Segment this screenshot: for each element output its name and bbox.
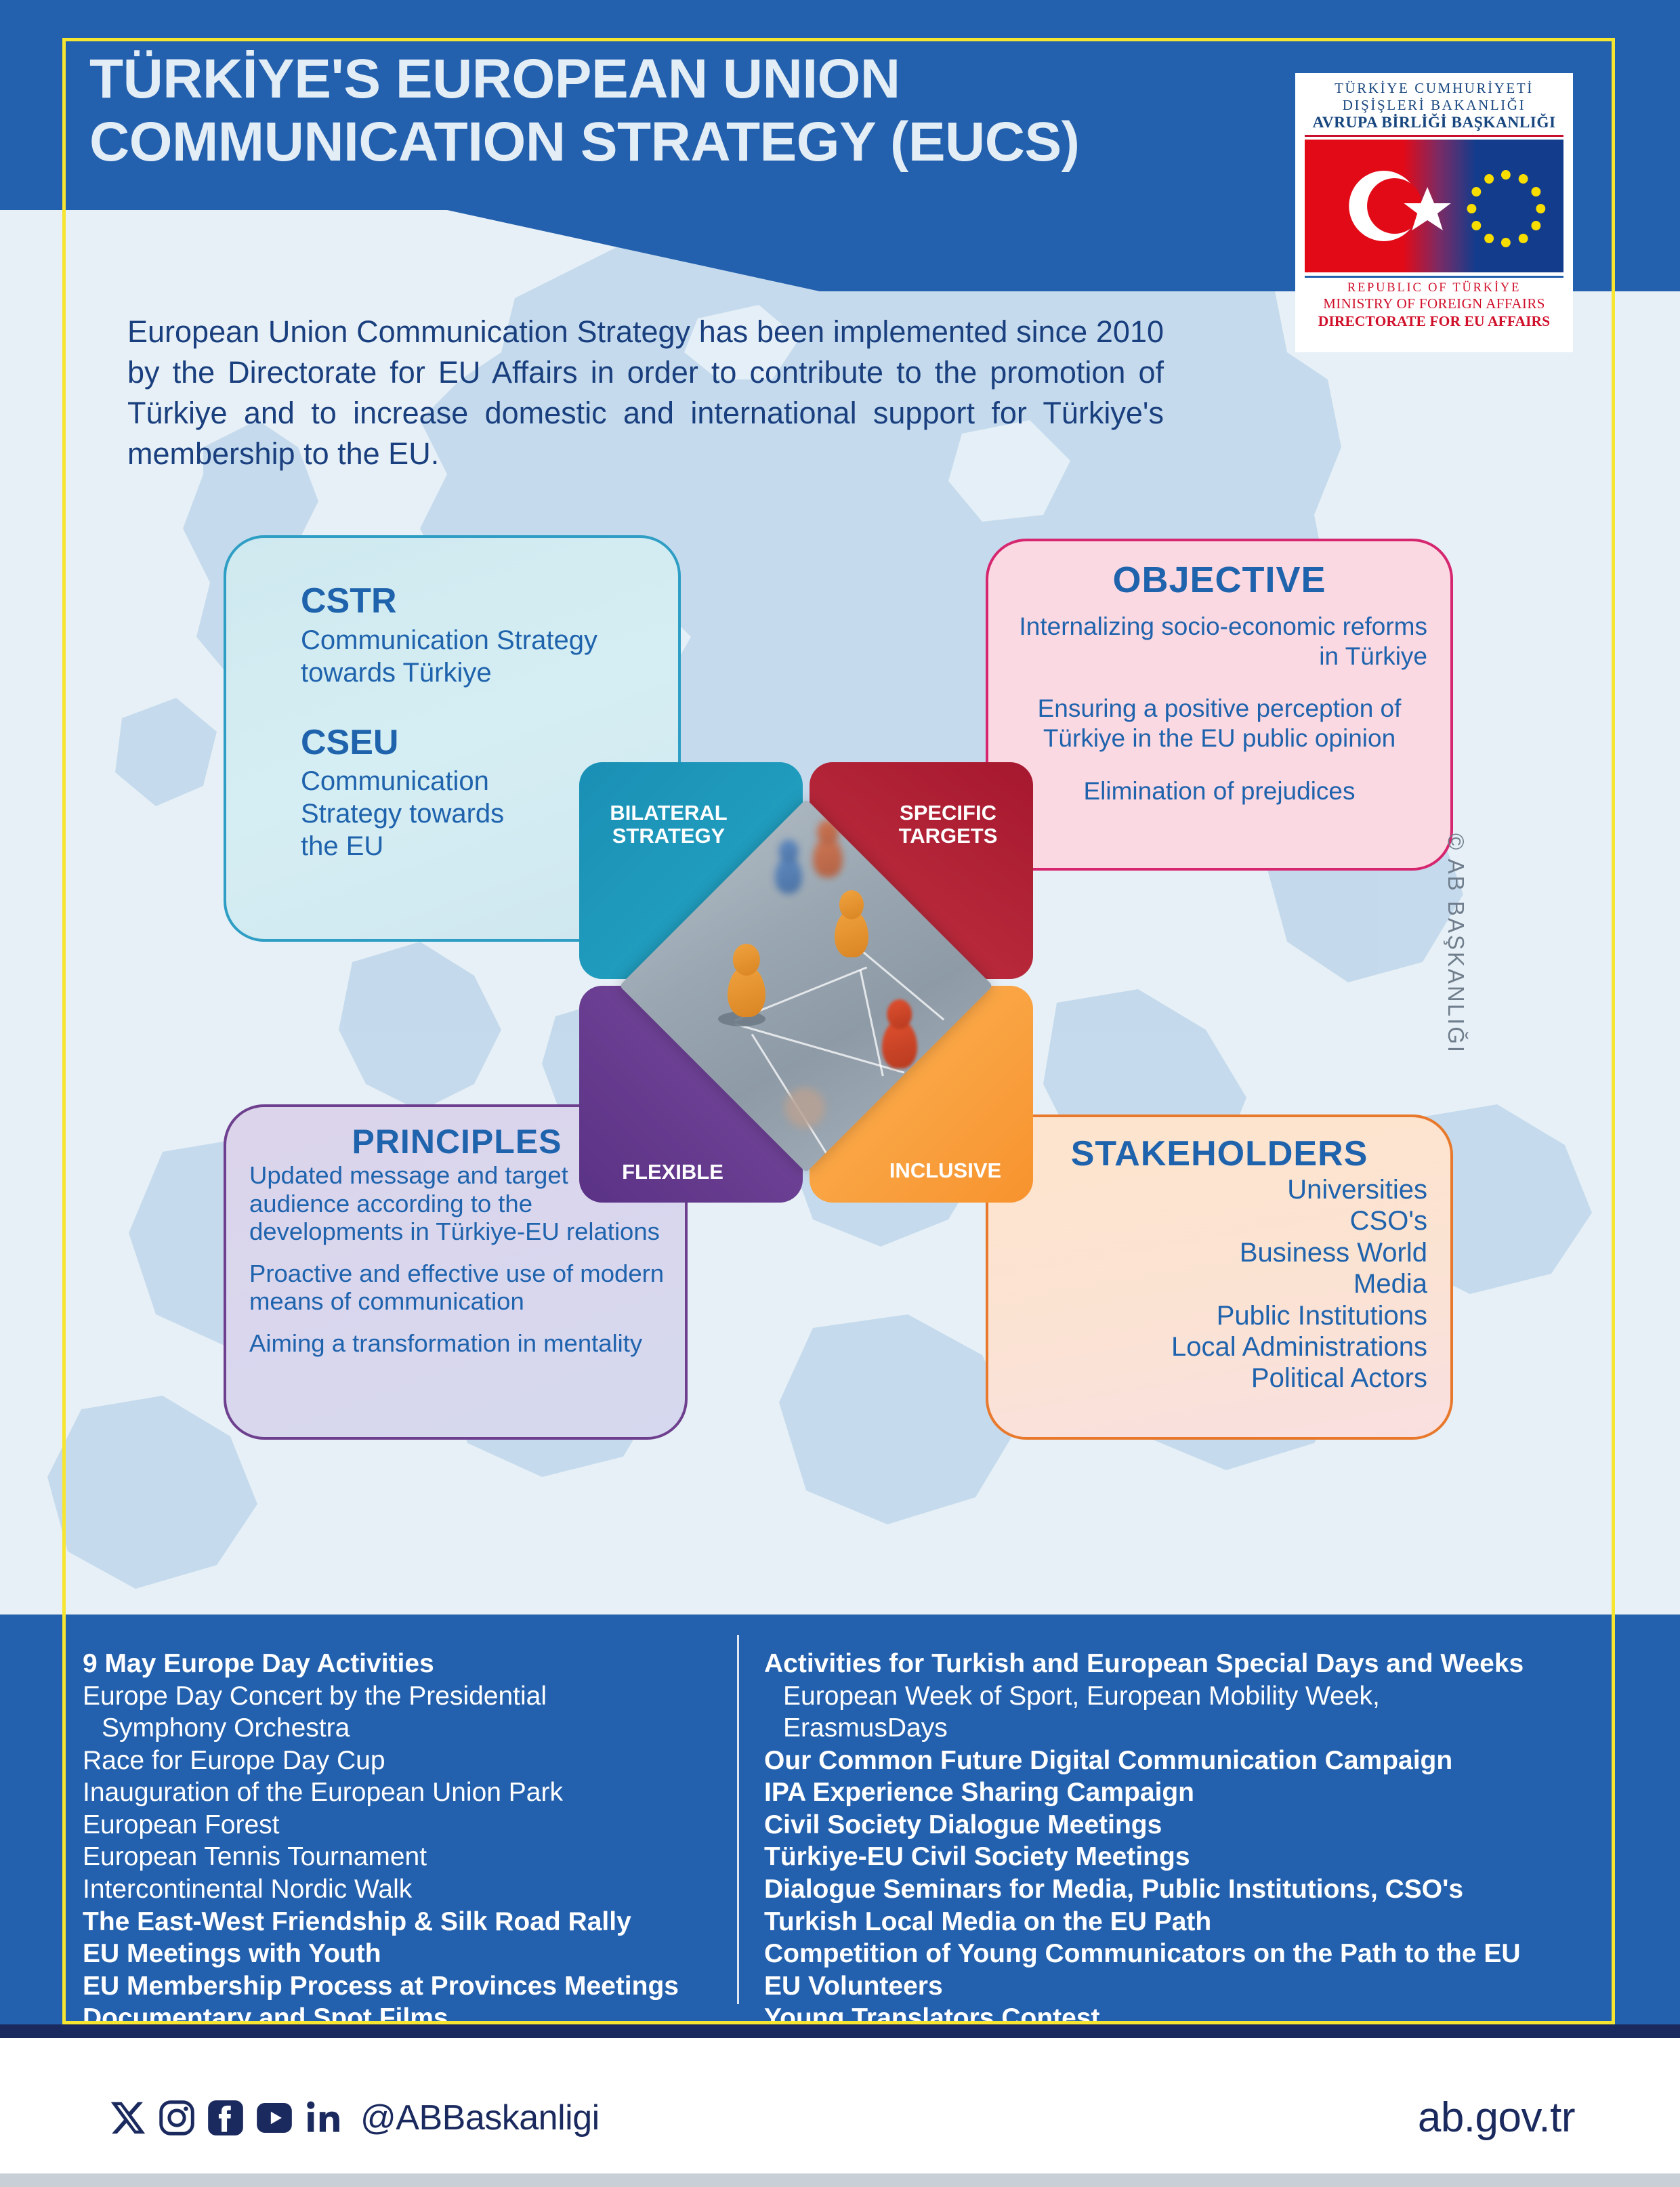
activity-item: The East-West Friendship & Silk Road Ral… <box>83 1906 726 1938</box>
activity-item: Inauguration of the European Union Park <box>83 1776 726 1809</box>
activities-column-divider <box>737 1635 739 2004</box>
stakeholder-item: CSO's <box>1011 1205 1427 1236</box>
objective-card: OBJECTIVE Internalizing socio-economic r… <box>986 539 1453 871</box>
activity-item: Europe Day Concert by the Presidential <box>83 1680 726 1713</box>
principles-item: Aiming a transformation in mentality <box>249 1329 665 1358</box>
page-title: TÜRKİYE'S EUROPEAN UNION COMMUNICATION S… <box>89 47 1227 174</box>
pawn-blurred-blue <box>775 856 802 894</box>
activity-item: EU Meetings with Youth <box>83 1938 726 1970</box>
activity-item: European Forest <box>83 1809 726 1841</box>
activity-item: Intercontinental Nordic Walk <box>83 1873 726 1906</box>
cstr-description: Communication Strategy towards Türkiye <box>301 624 619 689</box>
stakeholder-item: Media <box>1011 1268 1427 1299</box>
tile-bilateral-strategy-label: BILATERAL STRATEGY <box>594 801 743 848</box>
activity-item: European Tennis Tournament <box>83 1841 726 1873</box>
principles-item: Proactive and effective use of modern me… <box>249 1259 665 1316</box>
page-title-line-2: COMMUNICATION STRATEGY (EUCS) <box>89 110 1227 173</box>
social-handle[interactable]: @ABBaskanligi <box>360 2098 600 2138</box>
stakeholder-item: Public Institutions <box>1011 1300 1427 1331</box>
activities-right-heading: Activities for Turkish and European Spec… <box>764 1648 1597 1680</box>
pawn-orange-left <box>728 965 765 1017</box>
ministry-logo: TÜRKİYE CUMHURİYETİ DIŞİŞLERİ BAKANLIĞI … <box>1295 73 1573 352</box>
intro-paragraph: European Union Communication Strategy ha… <box>127 312 1164 474</box>
activity-item: Competition of Young Communicators on th… <box>764 1938 1597 1970</box>
logo-tr-line-2: DIŞİŞLERİ BAKANLIĞI <box>1303 97 1565 114</box>
activity-item: EU Membership Process at Provinces Meeti… <box>83 1970 726 2003</box>
tile-inclusive-label: INCLUSIVE <box>873 1159 1018 1182</box>
strategy-diagram: BILATERAL STRATEGY SPECIFIC TARGETS FLEX… <box>579 762 1033 1209</box>
pawn-orange-center <box>835 910 868 957</box>
activity-item: Race for Europe Day Cup <box>83 1745 726 1777</box>
activity-item: Civil Society Dialogue Meetings <box>764 1809 1597 1841</box>
social-media-links: @ABBaskanligi <box>107 2097 600 2139</box>
activity-item: Our Common Future Digital Communication … <box>764 1745 1597 1777</box>
pawn-blurred-back <box>813 837 843 877</box>
website-url[interactable]: ab.gov.tr <box>1418 2094 1575 2142</box>
stakeholder-item: Universities <box>1011 1174 1427 1205</box>
activity-item: Symphony Orchestra <box>83 1712 726 1745</box>
stakeholder-item: Local Administrations <box>1011 1331 1427 1362</box>
facebook-icon[interactable] <box>205 2097 247 2139</box>
cstr-abbreviation: CSTR <box>301 583 678 620</box>
tile-flexible-label: FLEXIBLE <box>598 1161 747 1184</box>
logo-en-line-3: DIRECTORATE FOR EU AFFAIRS <box>1303 313 1565 331</box>
footer-bottom-bar <box>0 2173 1680 2187</box>
activity-item: Türkiye-EU Civil Society Meetings <box>764 1841 1597 1873</box>
activities-left-column: 9 May Europe Day Activities Europe Day C… <box>83 1648 726 2035</box>
objective-item: Internalizing socio-economic reforms in … <box>1011 612 1427 671</box>
stakeholder-item: Business World <box>1011 1237 1427 1268</box>
logo-en-line-2: MINISTRY OF FOREIGN AFFAIRS <box>1303 295 1565 312</box>
logo-en-line-1: REPUBLIC OF TÜRKİYE <box>1303 280 1565 295</box>
pawn-red-right <box>882 1020 917 1068</box>
youtube-icon[interactable] <box>253 2097 295 2139</box>
logo-tr-line-1: TÜRKİYE CUMHURİYETİ <box>1303 80 1565 97</box>
objective-heading: OBJECTIVE <box>1011 559 1427 601</box>
page-title-line-1: TÜRKİYE'S EUROPEAN UNION <box>89 47 1227 110</box>
linkedin-icon[interactable] <box>302 2097 344 2139</box>
tile-specific-targets-label: SPECIFIC TARGETS <box>875 801 1021 848</box>
activity-item: Dialogue Seminars for Media, Public Inst… <box>764 1873 1597 1906</box>
copyright-notice: © AB BAŞKANLIĞI <box>1443 833 1469 1054</box>
cseu-description: Communication Strategy towards the EU <box>301 765 531 862</box>
cseu-abbreviation: CSEU <box>301 724 678 762</box>
logo-divider-bottom <box>1305 276 1563 278</box>
logo-tr-line-3: AVRUPA BİRLİĞİ BAŞKANLIĞI <box>1303 114 1565 133</box>
activity-item: Turkish Local Media on the EU Path <box>764 1906 1597 1938</box>
stakeholder-item: Political Actors <box>1011 1362 1427 1394</box>
activity-item: EU Volunteers <box>764 1970 1597 2003</box>
footer-top-rule <box>0 2024 1680 2038</box>
activity-item: European Week of Sport, European Mobilit… <box>764 1680 1597 1713</box>
stakeholders-card: STAKEHOLDERS Universities CSO's Business… <box>986 1115 1453 1440</box>
instagram-icon[interactable] <box>156 2097 198 2139</box>
activities-right-column: Activities for Turkish and European Spec… <box>764 1648 1597 2035</box>
logo-divider-top <box>1305 135 1563 137</box>
turkey-eu-flag-icon <box>1305 140 1563 272</box>
activity-item: ErasmusDays <box>764 1712 1597 1745</box>
x-icon[interactable] <box>107 2097 149 2139</box>
objective-item: Ensuring a positive perception of Türkiy… <box>1011 694 1427 753</box>
objective-item: Elimination of prejudices <box>1011 776 1427 806</box>
activity-item: IPA Experience Sharing Campaign <box>764 1776 1597 1809</box>
stakeholders-heading: STAKEHOLDERS <box>1011 1133 1427 1174</box>
activities-left-heading: 9 May Europe Day Activities <box>83 1648 726 1680</box>
